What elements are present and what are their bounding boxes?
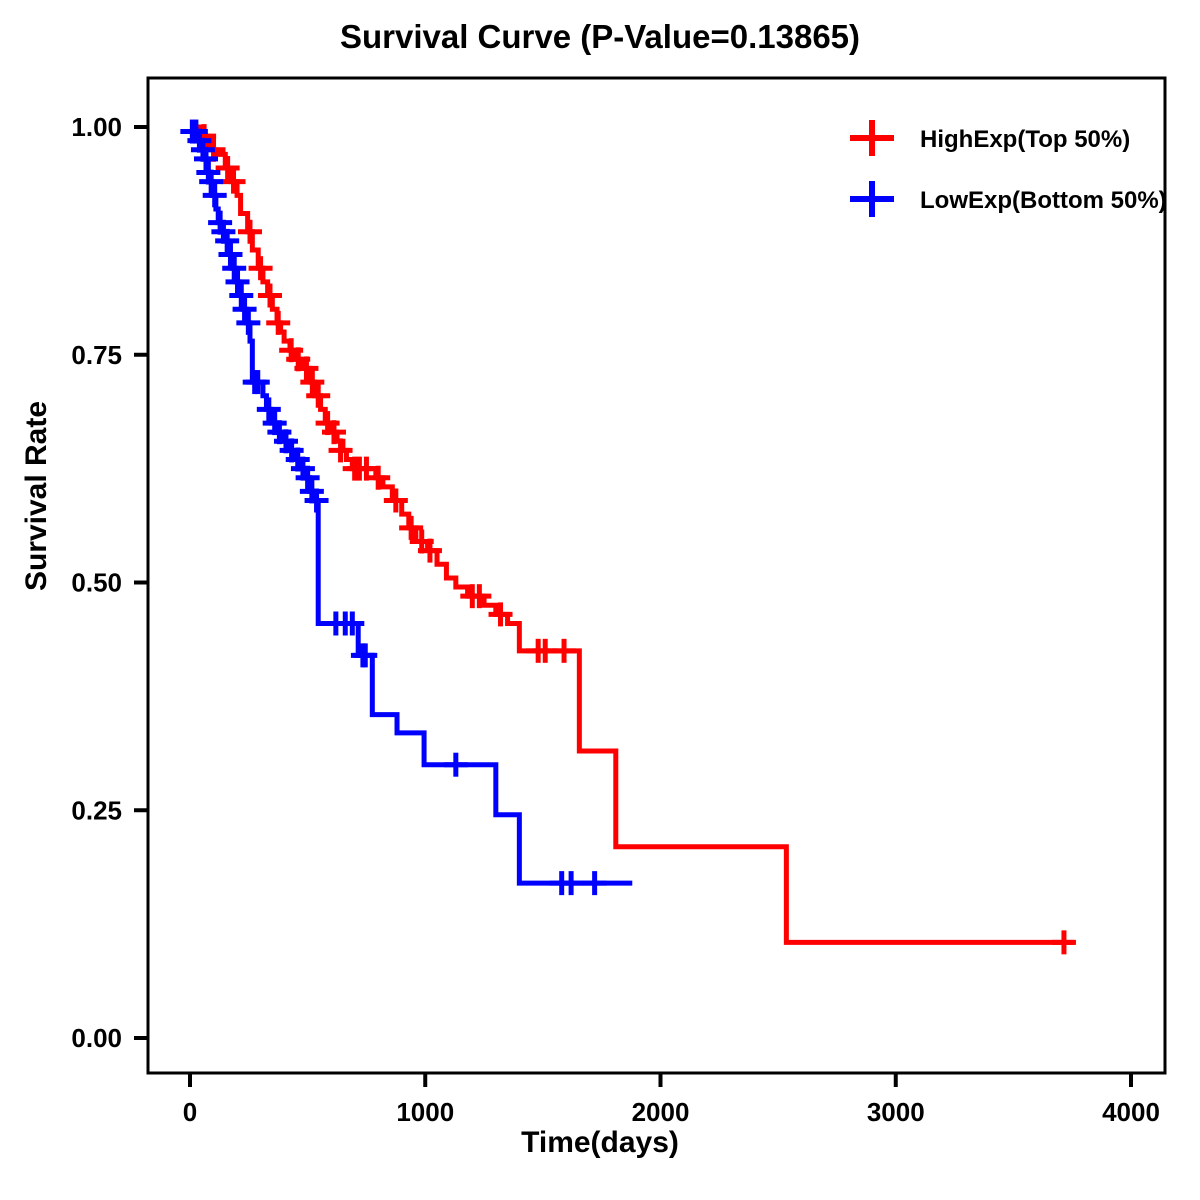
censor-mark-icon (552, 639, 576, 663)
censor-mark-icon (444, 753, 468, 777)
censor-mark-icon (246, 370, 270, 394)
survival-step-line (190, 127, 1075, 942)
censor-mark-icon (583, 871, 607, 895)
x-tick-label: 3000 (867, 1097, 925, 1127)
y-tick-label: 1.00 (71, 112, 122, 142)
censor-mark-icon (1052, 930, 1076, 954)
x-tick-label: 1000 (396, 1097, 454, 1127)
censor-mark-icon (384, 489, 408, 513)
y-tick-label: 0.50 (71, 568, 122, 598)
censor-mark-icon (218, 243, 242, 267)
y-tick-label: 0.75 (71, 340, 122, 370)
y-tick-label: 0.25 (71, 795, 122, 825)
censor-mark-icon (226, 270, 250, 294)
legend: HighExp(Top 50%)LowExp(Bottom 50%) (850, 120, 1167, 217)
censor-mark-icon (216, 156, 240, 180)
plot-frame (148, 78, 1165, 1073)
legend-plus-icon (850, 181, 894, 217)
x-axis-ticks: 01000200030004000 (183, 1073, 1160, 1127)
censor-mark-icon (238, 220, 262, 244)
survival-curves (180, 120, 1076, 955)
censor-mark-icon (222, 170, 246, 194)
plot-area: 01000200030004000 0.000.250.500.751.00 H… (0, 0, 1200, 1200)
censor-mark-icon (257, 397, 281, 421)
censor-mark-icon (233, 297, 257, 321)
censor-mark-icon (203, 183, 227, 207)
legend-item[interactable]: LowExp(Bottom 50%) (850, 181, 1167, 217)
censor-mark-icon (236, 311, 260, 335)
legend-plus-icon (850, 120, 894, 156)
y-axis-ticks: 0.000.250.500.751.00 (71, 112, 148, 1053)
x-tick-label: 4000 (1102, 1097, 1160, 1127)
x-tick-label: 2000 (632, 1097, 690, 1127)
survival-step-line (190, 127, 632, 883)
censor-mark-icon (266, 311, 290, 335)
censor-mark-icon (300, 370, 324, 394)
legend-label: HighExp(Top 50%) (920, 126, 1130, 153)
censor-mark-icon (222, 256, 246, 280)
survival-chart-page: Survival Curve (P-Value=0.13865) Surviva… (0, 0, 1200, 1200)
censor-mark-icon (258, 284, 282, 308)
censor-mark-icon (229, 284, 253, 308)
survival-series (190, 124, 1076, 954)
censor-mark-icon (306, 384, 330, 408)
censor-mark-icon (249, 256, 273, 280)
legend-label: LowExp(Bottom 50%) (920, 187, 1167, 214)
x-tick-label: 0 (183, 1097, 197, 1127)
legend-item[interactable]: HighExp(Top 50%) (850, 120, 1130, 156)
y-tick-label: 0.00 (71, 1023, 122, 1053)
